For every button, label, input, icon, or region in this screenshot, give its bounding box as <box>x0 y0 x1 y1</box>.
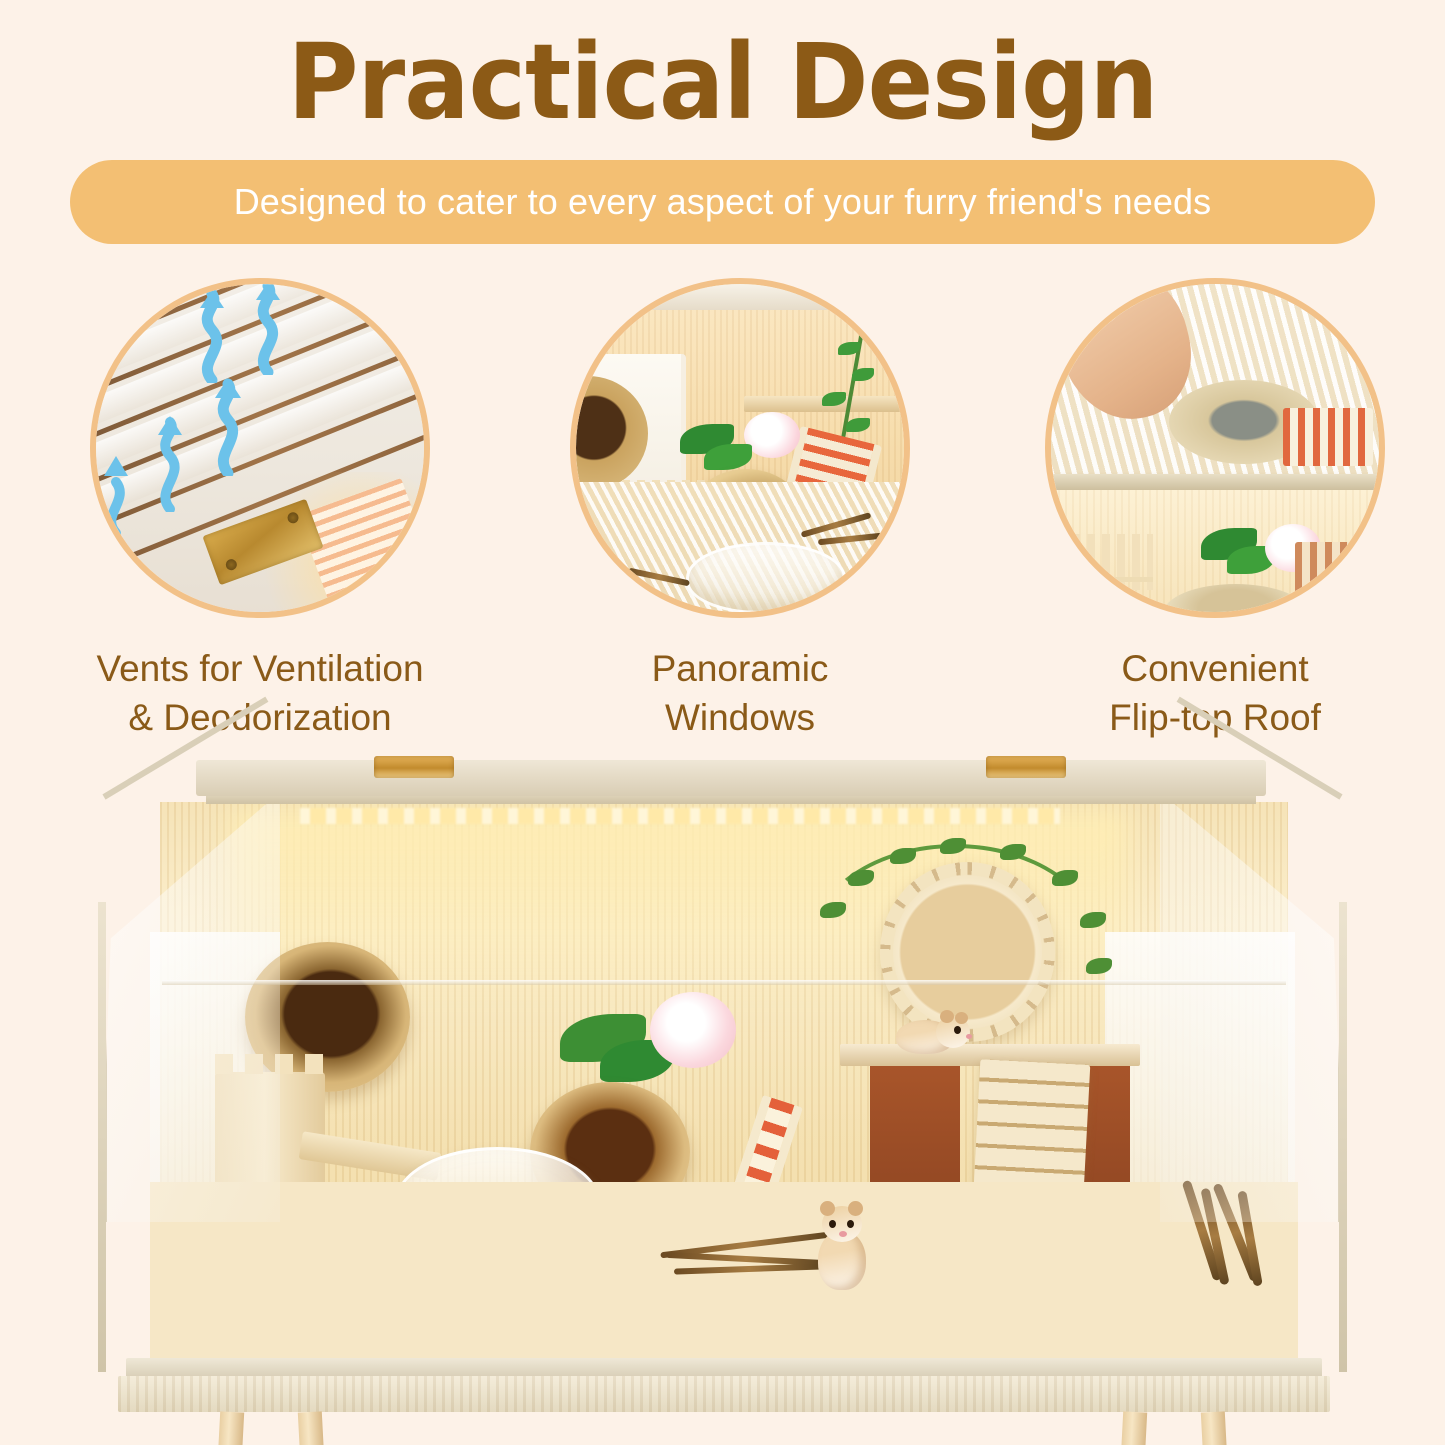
airflow-arrow-icon <box>96 452 138 536</box>
hamster <box>896 1010 974 1054</box>
wooden-leg <box>216 1411 244 1445</box>
subtitle-banner: Designed to cater to every aspect of you… <box>70 160 1375 244</box>
base-plinth <box>118 1376 1330 1412</box>
subtitle-text: Designed to cater to every aspect of you… <box>234 181 1212 223</box>
airflow-arrow-icon <box>188 288 236 383</box>
airflow-arrow-icon <box>244 284 292 375</box>
flip-top-roof <box>196 760 1266 796</box>
mid-rail <box>162 980 1286 985</box>
feature-flip-top-roof: Convenient Flip-top Roof <box>1000 278 1430 742</box>
brass-hinge-right <box>986 756 1066 778</box>
feature-row: Vents for Ventilation & Deodorization <box>0 278 1445 748</box>
airflow-arrow-icon <box>204 376 252 476</box>
led-light-strip <box>300 808 1060 824</box>
feature-caption-flip-top-roof: Convenient Flip-top Roof <box>1000 644 1430 742</box>
caption-line-1: Panoramic <box>525 644 955 693</box>
base-frame <box>126 1358 1322 1378</box>
caption-line-1: Vents for Ventilation <box>45 644 475 693</box>
feature-ventilation: Vents for Ventilation & Deodorization <box>45 278 475 742</box>
feature-image-panoramic-windows <box>570 278 910 618</box>
feature-panoramic-windows: Panoramic Windows <box>525 278 955 742</box>
feature-caption-ventilation: Vents for Ventilation & Deodorization <box>45 644 475 742</box>
pink-flower <box>650 992 736 1068</box>
sand-bath-icon <box>686 542 846 612</box>
wooden-leg <box>1119 1411 1147 1445</box>
wooden-leg <box>298 1411 326 1445</box>
chew-sticks <box>1150 1222 1270 1284</box>
flower-icon <box>744 412 800 458</box>
page-title: Practical Design <box>51 26 1395 138</box>
brass-hinge-left <box>374 756 454 778</box>
feature-caption-panoramic-windows: Panoramic Windows <box>525 644 955 742</box>
feature-image-flip-top-roof <box>1045 278 1385 618</box>
caption-line-2: Windows <box>525 693 955 742</box>
airflow-arrow-icon <box>148 414 192 512</box>
ladder-icon <box>1295 542 1357 600</box>
feature-image-ventilation <box>90 278 430 618</box>
wood-shavings-bedding <box>150 1182 1298 1372</box>
product-photo <box>0 752 1445 1445</box>
caption-line-1: Convenient <box>1000 644 1430 693</box>
hamster <box>812 1204 874 1290</box>
ladder-icon <box>1283 408 1373 466</box>
wooden-leg <box>1201 1411 1229 1445</box>
infographic-page: Practical Design Designed to cater to ev… <box>0 0 1445 1445</box>
